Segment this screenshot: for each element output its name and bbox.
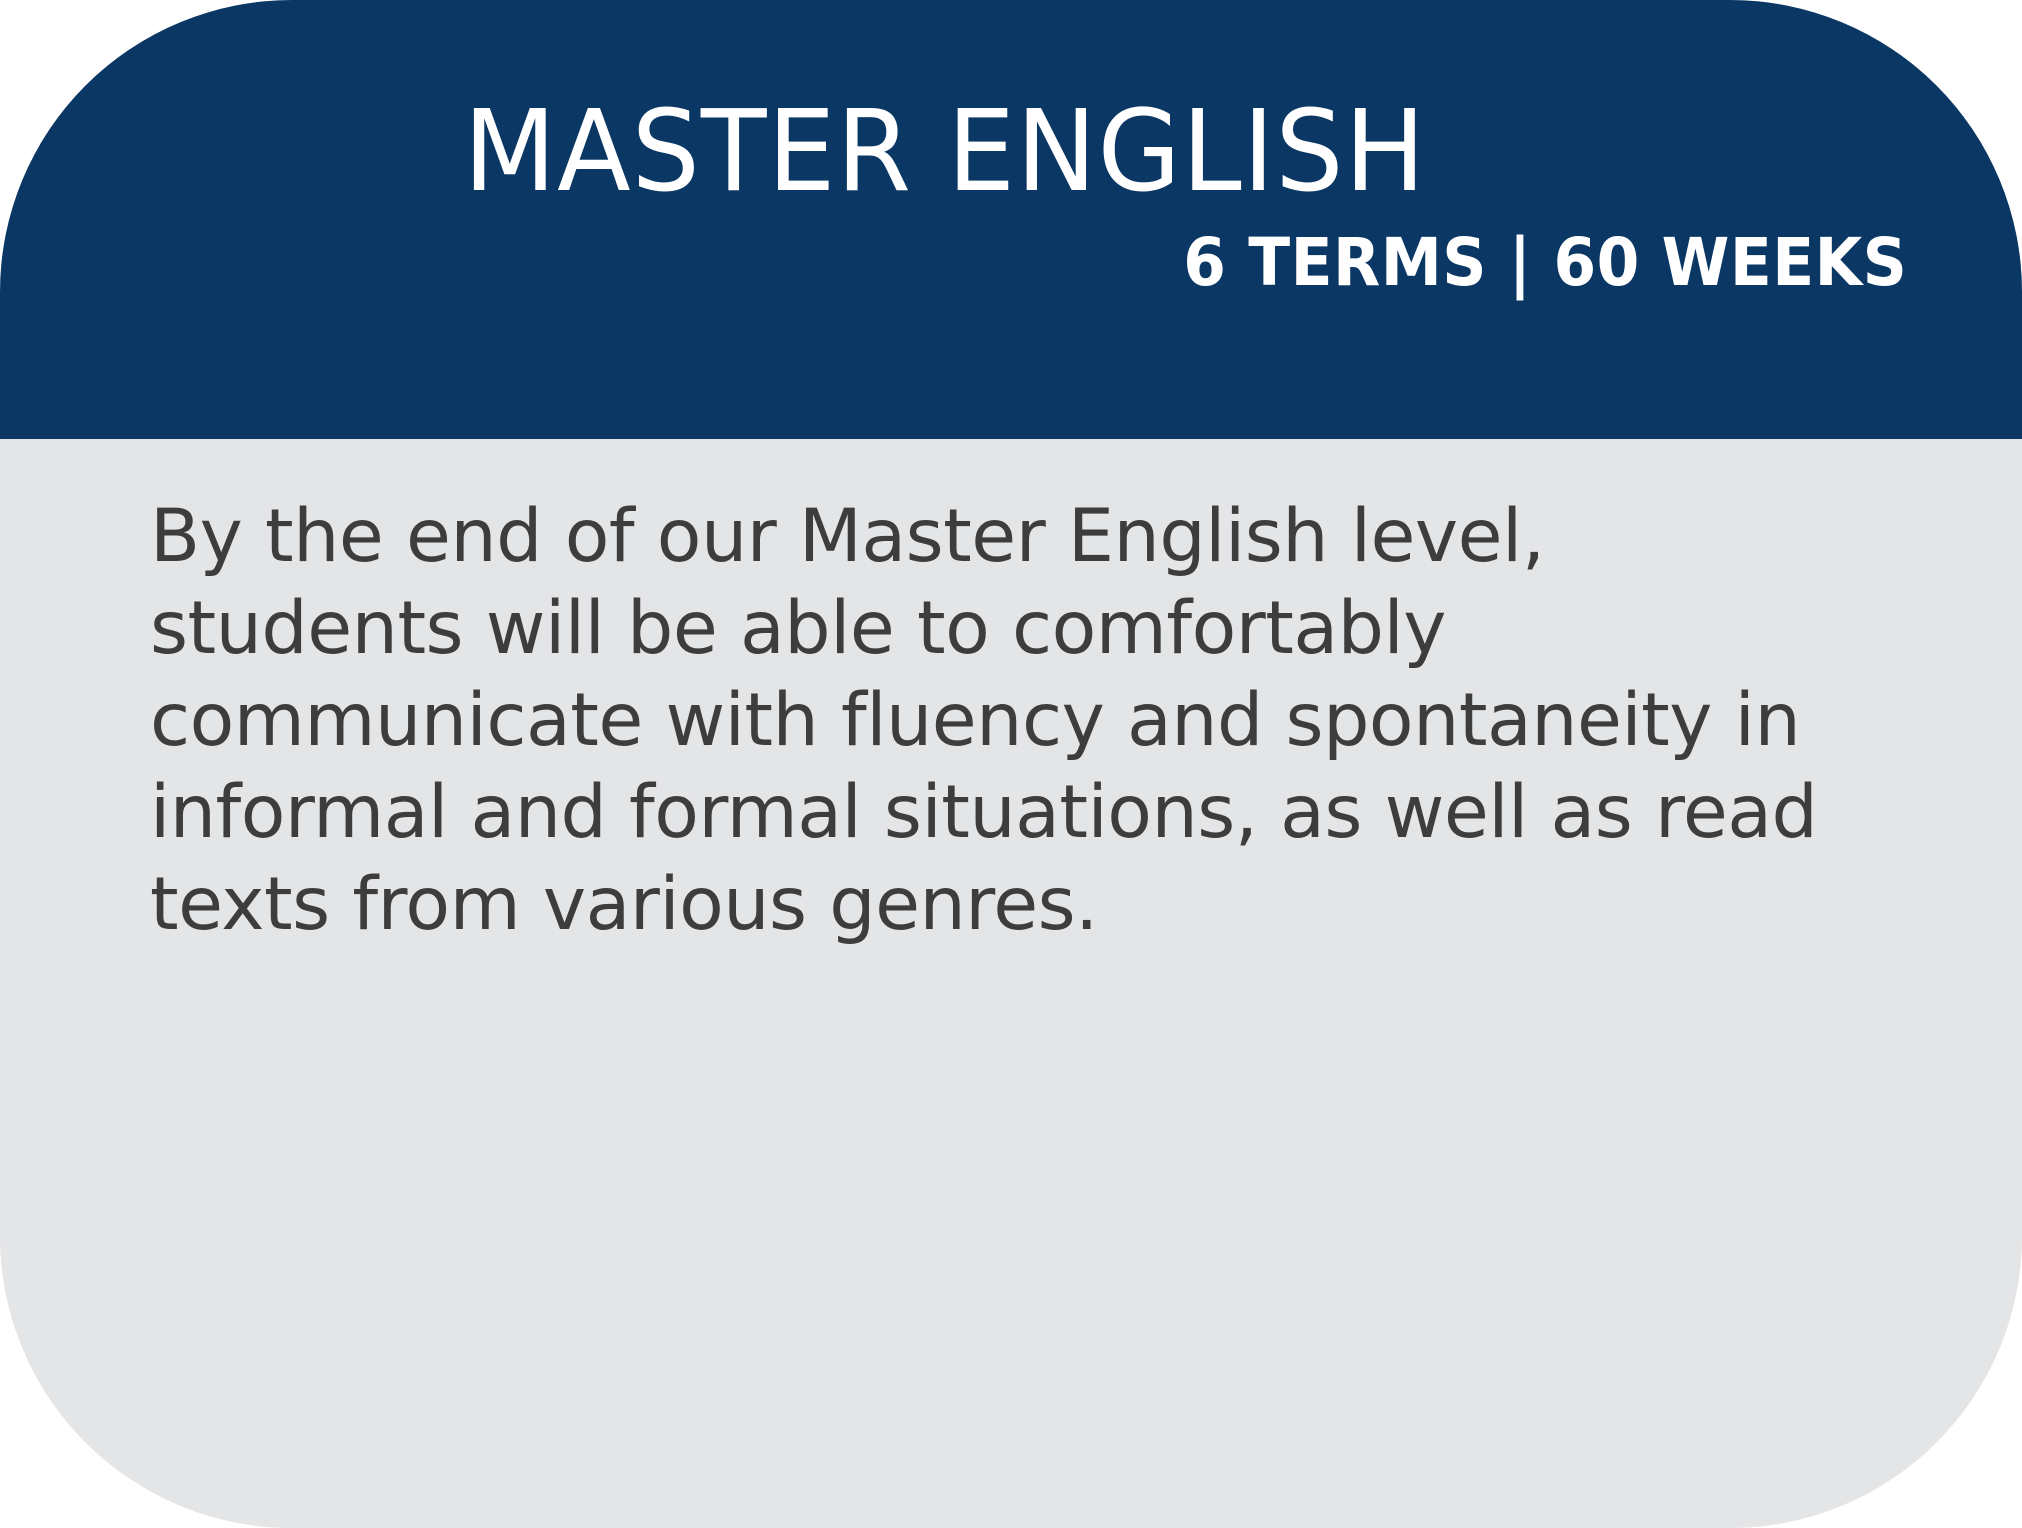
description-line: informal and formal situations, as well … bbox=[150, 767, 1922, 859]
level-description: By the end of our Master English level, … bbox=[150, 491, 1922, 951]
description-line: students will be able to comfortably bbox=[150, 583, 1922, 675]
description-line: By the end of our Master English level, bbox=[150, 491, 1922, 583]
card-header: MASTER ENGLISH 6 TERMS | 60 WEEKS bbox=[0, 0, 2022, 439]
description-line: texts from various genres. bbox=[150, 859, 1922, 951]
page-title: MASTER ENGLISH bbox=[40, 0, 1939, 208]
course-duration-subtitle: 6 TERMS | 60 WEEKS bbox=[138, 208, 1978, 296]
card-body: By the end of our Master English level, … bbox=[0, 439, 2022, 1528]
course-level-card: MASTER ENGLISH 6 TERMS | 60 WEEKS By the… bbox=[0, 0, 2022, 1528]
description-line: communicate with fluency and spontaneity… bbox=[150, 675, 1922, 767]
